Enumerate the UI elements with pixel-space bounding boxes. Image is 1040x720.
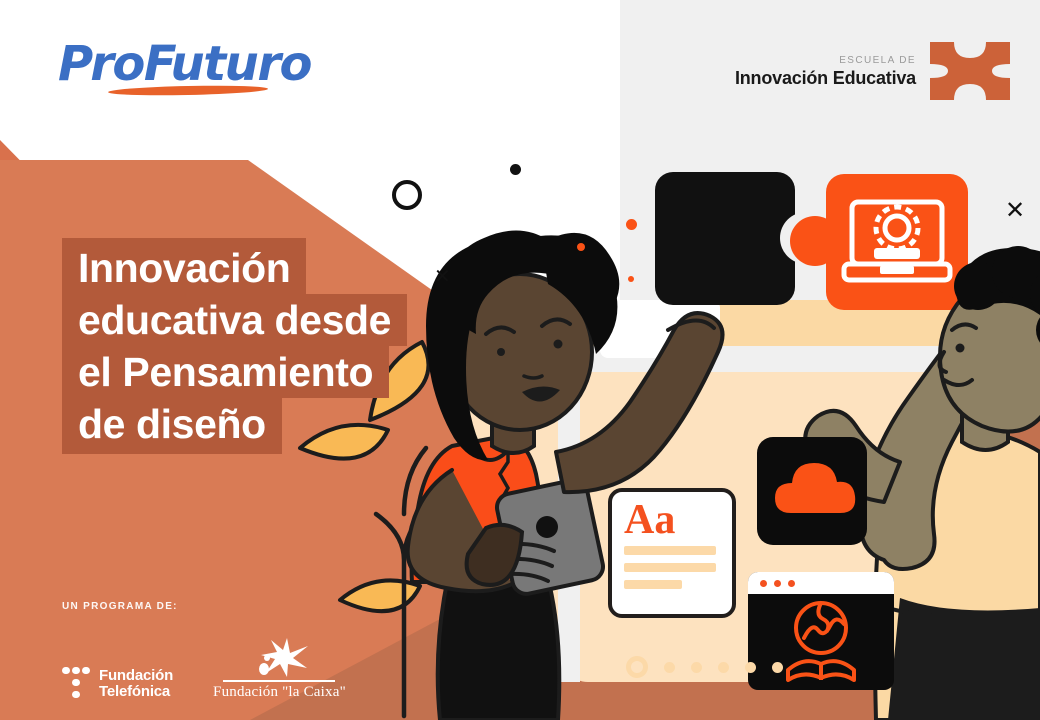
profuturo-logo: ProFuturo [58,38,311,90]
text-line-2 [624,563,716,572]
title-line-3: el Pensamiento [62,346,389,398]
fundacion-telefonica-logo: Fundación Telefónica [62,667,173,701]
panel-divider-strip [558,372,580,682]
title-line-2: educativa desde [62,294,407,346]
browser-dot-2 [774,580,781,587]
telefonica-wordmark: Fundación Telefónica [99,668,173,700]
cloud-icon [757,437,867,545]
cloud-card [757,437,867,545]
footer-logos: Fundación Telefónica Fundación "la Caixa… [62,636,346,701]
dot-decoration-orange-2 [577,243,585,251]
typography-sample-text: Aa [624,498,732,542]
ring-decoration-icon [392,180,422,210]
escuela-name: Innovación Educativa [735,67,916,89]
telefonica-dots-icon [62,667,90,701]
browser-dot-1 [760,580,767,587]
la-caixa-rule [223,680,335,682]
slide-canvas: ✕ ✕ [0,0,1040,720]
text-line-1 [624,546,716,555]
x-decoration-icon-1: ✕ [434,266,451,286]
escuela-x-mark-icon [928,40,1012,102]
page-title: Innovación educativa desde el Pensamient… [62,238,407,454]
title-line-1: Innovación [62,238,306,294]
dot-decoration-orange-1 [626,219,637,230]
la-caixa-wordmark: Fundación "la Caixa" [213,683,346,701]
pagination-dot-active[interactable] [626,656,648,678]
panel-dot-left [620,322,636,338]
browser-title-bar [748,572,894,594]
typography-card: Aa [608,488,736,618]
escuela-kicker: ESCUELA DE [735,54,916,67]
telefonica-line-1: Fundación [99,668,173,684]
pagination-dot-2[interactable] [664,662,675,673]
puzzle-piece-black [655,172,795,305]
pagination[interactable] [626,656,783,678]
pagination-dot-4[interactable] [718,662,729,673]
puzzle-piece-orange [826,174,968,310]
title-line-4: de diseño [62,398,282,454]
browser-dot-3 [788,580,795,587]
text-line-3 [624,580,682,589]
pagination-dot-6[interactable] [772,662,783,673]
panel-dot-right [658,322,674,338]
escuela-text-block: ESCUELA DE Innovación Educativa [735,54,916,89]
profuturo-wordmark: ProFuturo [58,38,311,90]
pagination-dot-5[interactable] [745,662,756,673]
la-caixa-star-icon [247,636,311,678]
footer-label: UN PROGRAMA DE: [62,600,346,614]
escuela-logo: ESCUELA DE Innovación Educativa [735,40,1012,102]
laptop-gear-icon [826,174,968,310]
dot-decoration-orange-3 [628,276,634,282]
dot-decoration-black [510,164,521,175]
pagination-dot-3[interactable] [691,662,702,673]
puzzle-tab [790,216,840,266]
x-decoration-icon-2: ✕ [1005,200,1025,220]
footer: UN PROGRAMA DE: Fundación Telefónica [62,600,346,701]
telefonica-line-2: Telefónica [99,684,173,700]
fundacion-la-caixa-logo: Fundación "la Caixa" [213,636,346,701]
